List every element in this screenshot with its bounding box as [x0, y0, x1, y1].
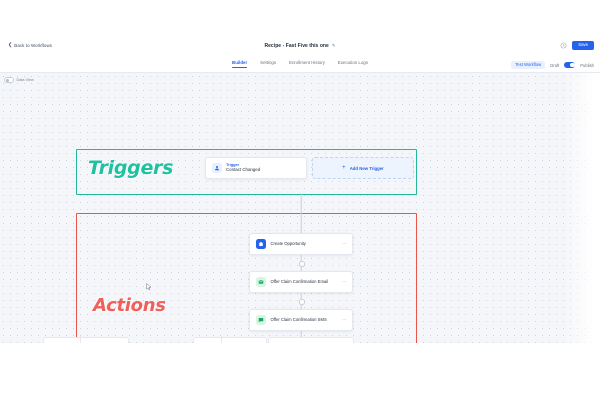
- offscreen-bottom-strip: [0, 336, 600, 343]
- test-workflow-button[interactable]: Test Workflow: [511, 61, 545, 69]
- annotation-label-triggers: Triggers: [88, 157, 173, 179]
- trigger-card-text: Trigger Contact Changed: [226, 163, 260, 172]
- draft-label: Draft: [550, 63, 559, 68]
- partial-card-right[interactable]: [268, 337, 354, 343]
- tabs-bar: Builder Settings Enrollment History Exec…: [0, 58, 600, 73]
- publish-label: Publish: [580, 63, 594, 68]
- connector-line: [301, 193, 302, 233]
- kebab-menu-icon[interactable]: ⋯: [342, 242, 347, 247]
- action-card-create-opportunity[interactable]: Create Opportunity ⋯: [249, 233, 353, 255]
- canvas-right-fade: [564, 73, 600, 343]
- tab-execution-logs[interactable]: Execution Logs: [338, 60, 368, 68]
- action-title: Offer Claim Confirmation SMS: [271, 317, 338, 322]
- action-title: Offer Claim Confirmation Email: [271, 279, 338, 284]
- connector-1: [249, 255, 353, 271]
- add-new-trigger-button[interactable]: + Add New Trigger: [312, 157, 414, 179]
- connector-add-node[interactable]: [299, 299, 304, 304]
- trigger-row: Trigger Contact Changed + Add New Trigge…: [205, 157, 414, 179]
- sms-chat-icon: [256, 315, 266, 325]
- action-card-offer-claim-confirmation-sms[interactable]: Offer Claim Confirmation SMS ⋯: [249, 309, 353, 331]
- trigger-name-label: Contact Changed: [226, 168, 260, 172]
- email-envelope-icon: [256, 277, 266, 287]
- publish-toggle[interactable]: [564, 62, 575, 68]
- add-new-trigger-label: Add New Trigger: [350, 166, 384, 171]
- tab-enrollment-history[interactable]: Enrollment History: [289, 60, 325, 68]
- connector-2: [249, 293, 353, 309]
- publish-toggle-knob: [570, 63, 574, 67]
- pencil-icon[interactable]: ✎: [332, 43, 336, 49]
- mouse-cursor: [146, 283, 152, 291]
- data-view-toggle[interactable]: Data View: [4, 77, 34, 83]
- trigger-card[interactable]: Trigger Contact Changed: [205, 157, 307, 179]
- data-view-label: Data View: [17, 78, 34, 82]
- data-view-switch[interactable]: [4, 77, 14, 83]
- top-bar: ❮ Back to Workflows Recipe - Fast Five t…: [0, 38, 600, 58]
- connector-add-node[interactable]: [299, 261, 304, 266]
- annotation-label-actions: Actions: [93, 295, 166, 316]
- tab-settings[interactable]: Settings: [260, 60, 276, 68]
- page-title: Recipe - Fast Five this one: [264, 43, 328, 49]
- history-clock-icon[interactable]: [560, 42, 567, 49]
- action-title: Create Opportunity: [271, 241, 338, 246]
- connector-trigger-to-actions: [249, 193, 353, 233]
- opportunity-briefcase-icon: [256, 239, 266, 249]
- kebab-menu-icon[interactable]: ⋯: [342, 280, 347, 285]
- plus-icon: +: [342, 165, 346, 171]
- action-card-offer-claim-confirmation-email[interactable]: Offer Claim Confirmation Email ⋯: [249, 271, 353, 293]
- kebab-menu-icon[interactable]: ⋯: [342, 318, 347, 323]
- annotation-box-actions: [76, 213, 417, 343]
- app-window: ❮ Back to Workflows Recipe - Fast Five t…: [0, 38, 600, 343]
- tabs-bar-actions: Test Workflow Draft Publish: [511, 61, 594, 69]
- partial-group-frame: [80, 336, 222, 343]
- tab-list: Builder Settings Enrollment History Exec…: [232, 60, 368, 68]
- contact-person-icon: [212, 163, 222, 173]
- top-bar-actions: Save: [560, 41, 594, 50]
- workflow-canvas[interactable]: Data View Triggers Actions Trigger Conta…: [0, 73, 600, 343]
- document-title-group: Recipe - Fast Five this one ✎: [0, 43, 600, 49]
- action-flow: Create Opportunity ⋯ Offer Claim Confirm…: [249, 233, 353, 343]
- save-button[interactable]: Save: [572, 41, 594, 50]
- tab-builder[interactable]: Builder: [232, 60, 247, 68]
